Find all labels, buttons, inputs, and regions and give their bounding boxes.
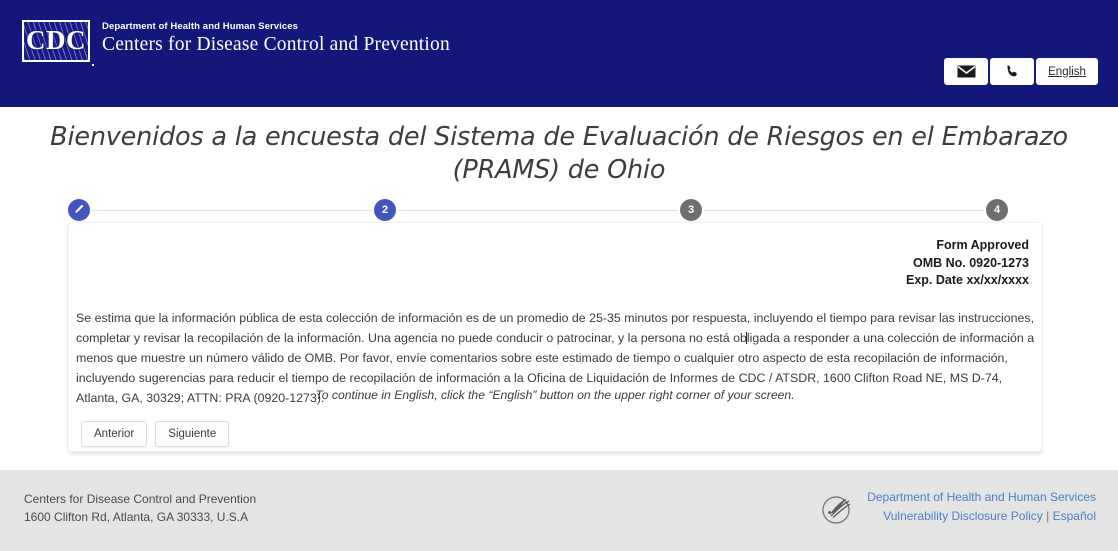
omb-form-approved: Form Approved: [906, 237, 1029, 255]
omb-number: OMB No. 0920-1273: [906, 255, 1029, 273]
pencil-icon: [73, 203, 85, 218]
omb-exp-date: Exp. Date xx/xx/xxxx: [906, 272, 1029, 290]
hhs-eagle-seal-icon: [821, 492, 855, 526]
step-indicator-1[interactable]: [68, 199, 90, 221]
footer-link-hhs[interactable]: Department of Health and Human Services: [867, 490, 1096, 504]
step-connector-2: [398, 210, 678, 211]
step-connector-1: [92, 210, 372, 211]
envelope-icon: [957, 65, 976, 78]
step-4-label: 4: [994, 204, 1000, 216]
progress-stepper: 2 3 4: [68, 198, 1008, 222]
step-3-label: 3: [688, 204, 694, 216]
email-button[interactable]: [944, 58, 988, 85]
omb-exp-date-label: Exp. Date: [906, 273, 966, 287]
step-2-label: 2: [382, 204, 388, 216]
phone-icon: [1005, 64, 1020, 79]
site-footer: Centers for Disease Control and Preventi…: [0, 470, 1118, 551]
footer-address-line1: Centers for Disease Control and Preventi…: [24, 490, 256, 508]
brand-agency-line: Department of Health and Human Services: [102, 21, 450, 33]
survey-intro-card: Form Approved OMB No. 0920-1273 Exp. Dat…: [68, 222, 1042, 452]
language-toggle-button[interactable]: English: [1036, 58, 1098, 85]
site-header: CDC Department of Health and Human Servi…: [0, 0, 1118, 107]
cdc-logo-icon: CDC: [22, 20, 90, 62]
brand-text: Department of Health and Human Services …: [102, 20, 450, 57]
omb-approval-block: Form Approved OMB No. 0920-1273 Exp. Dat…: [906, 237, 1029, 290]
footer-right: Department of Health and Human Services …: [821, 488, 1096, 526]
page-title: Bienvenidos a la encuesta del Sistema de…: [29, 121, 1089, 187]
english-instruction-note: To continue in English, click the “Engli…: [69, 388, 1041, 402]
phone-button[interactable]: [990, 58, 1034, 85]
step-indicator-4[interactable]: 4: [986, 199, 1008, 221]
language-label: English: [1048, 66, 1086, 78]
step-indicator-3[interactable]: 3: [680, 199, 702, 221]
footer-link-espanol[interactable]: Español: [1053, 509, 1096, 523]
brand-org-line: Centers for Disease Control and Preventi…: [102, 33, 450, 57]
footer-link-separator: |: [1046, 509, 1049, 523]
cdc-brand[interactable]: CDC Department of Health and Human Servi…: [22, 20, 450, 62]
footer-address: Centers for Disease Control and Preventi…: [24, 490, 256, 526]
header-actions: English: [944, 58, 1098, 85]
next-button[interactable]: Siguiente: [155, 421, 229, 447]
previous-button[interactable]: Anterior: [81, 421, 147, 447]
cdc-logo-text: CDC: [24, 25, 88, 56]
footer-address-line2: 1600 Clifton Rd, Atlanta, GA 30333, U.S.…: [24, 508, 256, 526]
step-connector-3: [704, 210, 984, 211]
card-navigation: Anterior Siguiente: [81, 421, 229, 447]
step-indicator-2[interactable]: 2: [374, 199, 396, 221]
footer-link-vulnerability-disclosure-policy[interactable]: Vulnerability Disclosure Policy: [883, 509, 1043, 523]
omb-exp-date-value: xx/xx/xxxx: [966, 273, 1029, 287]
cdc-logo-trademark-dot: [92, 64, 94, 66]
footer-links: Department of Health and Human Services …: [867, 488, 1096, 526]
